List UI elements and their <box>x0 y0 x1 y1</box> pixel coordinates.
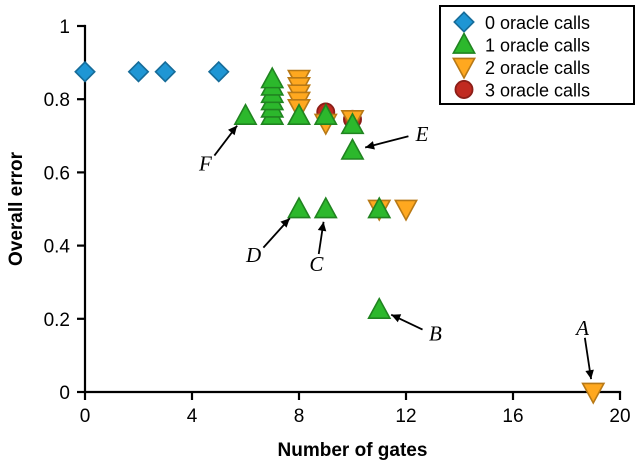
y-axis-title: Overall error <box>6 151 27 266</box>
annotation-label-E: E <box>415 122 429 146</box>
annotation-label-C: C <box>309 252 324 276</box>
annotation-label-F: F <box>198 151 212 175</box>
x-tick-label: 4 <box>187 406 198 427</box>
x-tick-label: 16 <box>502 406 523 427</box>
annotation-label-B: B <box>429 321 442 345</box>
x-tick-label: 8 <box>294 406 305 427</box>
y-tick-label: 0.2 <box>44 310 70 331</box>
legend-item-label: 2 oracle calls <box>485 58 590 78</box>
y-tick-label: 0 <box>59 383 70 404</box>
y-tick-label: 1 <box>59 17 70 38</box>
annotation-label-A: A <box>574 316 589 340</box>
y-tick-label: 0.8 <box>44 90 70 111</box>
chart-canvas: 04812162000.20.40.60.81Number of gatesOv… <box>0 0 640 465</box>
legend-item-label: 0 oracle calls <box>485 13 590 33</box>
scatter-plot-figure: 04812162000.20.40.60.81Number of gatesOv… <box>0 0 640 465</box>
annotation-label-D: D <box>245 243 261 267</box>
x-tick-label: 12 <box>395 406 416 427</box>
y-tick-label: 0.6 <box>44 163 70 184</box>
legend: 0 oracle calls1 oracle calls2 oracle cal… <box>440 6 634 104</box>
x-tick-label: 20 <box>609 406 630 427</box>
marker-circle <box>455 81 472 98</box>
x-axis-title: Number of gates <box>278 440 428 461</box>
legend-item-label: 3 oracle calls <box>485 81 590 101</box>
y-tick-label: 0.4 <box>44 237 71 258</box>
x-tick-label: 0 <box>80 406 91 427</box>
legend-item-label: 1 oracle calls <box>485 36 590 56</box>
